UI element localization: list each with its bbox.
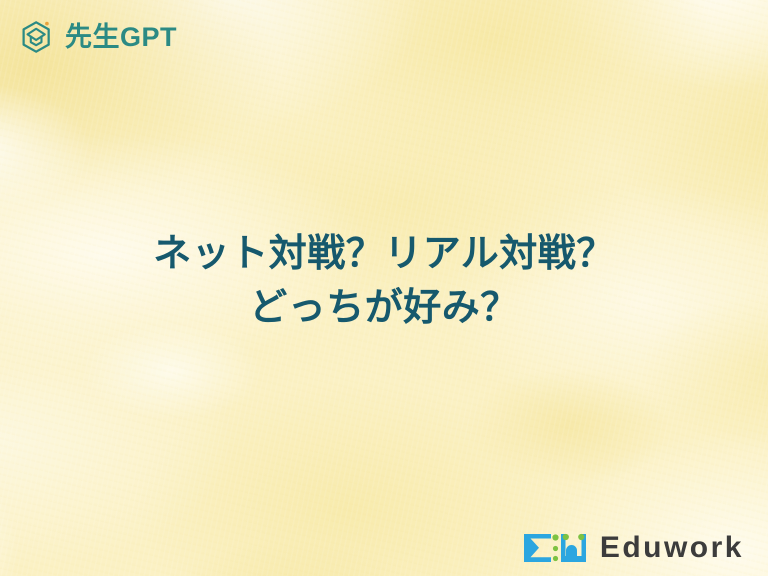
eduwork-wordmark: Eduwork: [600, 533, 744, 563]
eduwork-logo-mark: [522, 532, 588, 564]
sparkle-dot-icon: [45, 22, 49, 26]
brand-logo[interactable]: 先生GPT: [18, 18, 177, 56]
headline-line-2: どっちが好み？: [0, 282, 768, 336]
brand-name: 先生GPT: [65, 24, 177, 51]
graduation-cap-hexagon-icon: [18, 18, 56, 56]
headline-line-1: ネット対戦？リアル対戦？: [0, 228, 768, 282]
headline: ネット対戦？リアル対戦？ どっちが好み？: [0, 228, 768, 336]
eduwork-logo[interactable]: Eduwork: [522, 532, 744, 564]
slide-canvas: 先生GPT ネット対戦？リアル対戦？ どっちが好み？ Eduwork: [0, 0, 768, 576]
